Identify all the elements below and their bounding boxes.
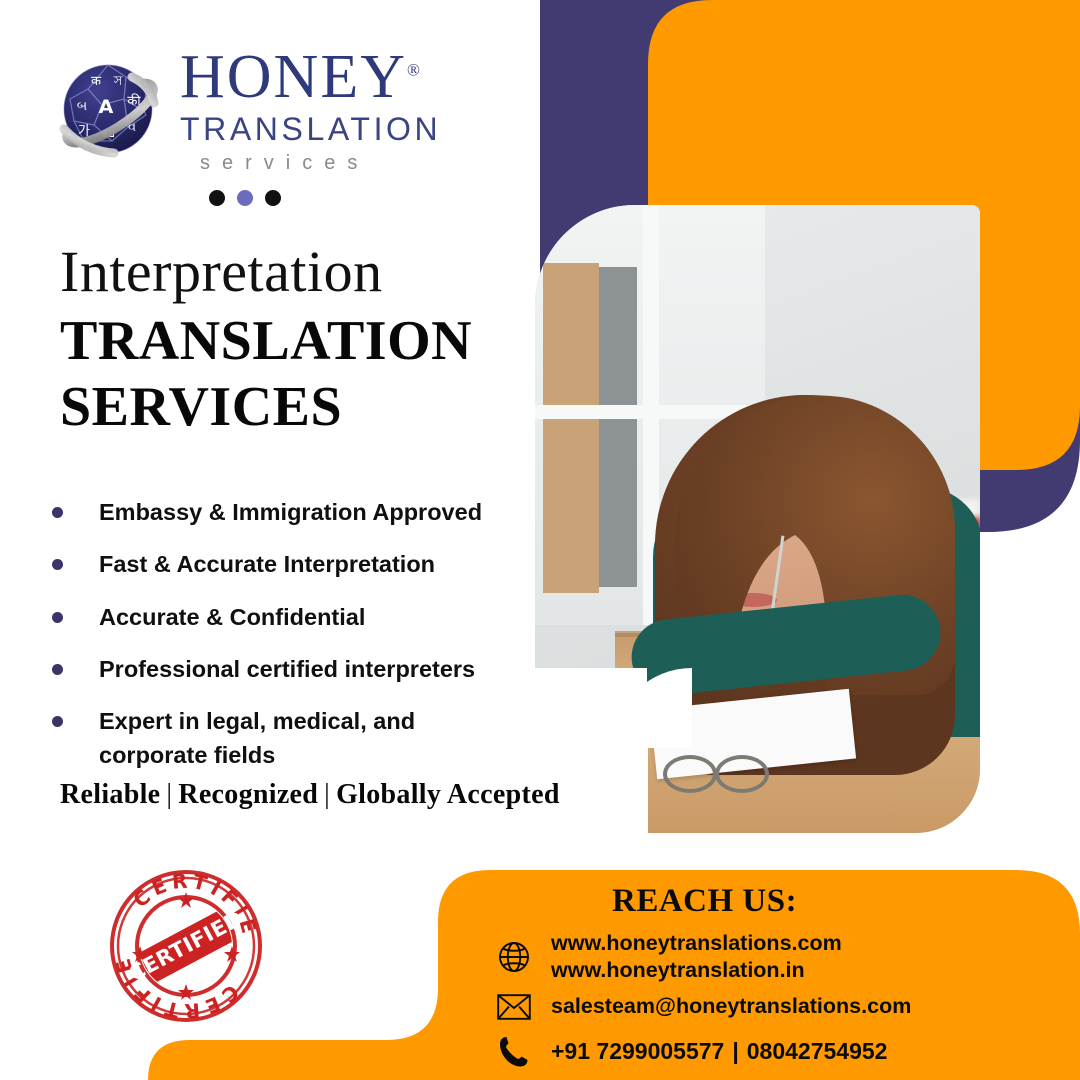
svg-text:CERTIFIED: CERTIFIED	[125, 906, 247, 986]
svg-text:क: क	[91, 74, 102, 89]
dot-2	[237, 190, 253, 206]
brand-name-primary-text: HONEY	[180, 43, 407, 111]
contact-heading: REACH US:	[612, 883, 797, 920]
contact-row-email[interactable]: salesteam@honeytranslations.com	[495, 988, 911, 1026]
headline-script: Interpretation	[60, 238, 383, 305]
poster-canvas: A બ की क স । 가 ഖ વ HONEY® TRANSLATION se…	[0, 0, 1080, 1080]
svg-text:স: স	[113, 74, 123, 89]
list-item: Professional certified interpreters	[52, 653, 522, 686]
svg-text:બ: બ	[77, 99, 87, 114]
envelope-icon	[495, 988, 533, 1026]
contact-phone-text: +91 7299005577|08042754952	[551, 1037, 887, 1066]
contact-section: REACH US: www.honeytranslations.com www.…	[440, 870, 1080, 1080]
photo-shelf-book	[543, 263, 599, 593]
bullet-dot-icon	[52, 559, 63, 570]
contact-website-text: www.honeytranslations.com www.honeytrans…	[551, 930, 842, 985]
brand-name-tertiary: services	[200, 152, 441, 175]
dot-1	[209, 190, 225, 206]
list-item: Fast & Accurate Interpretation	[52, 548, 522, 581]
tagline-part-2: Recognized	[178, 779, 318, 810]
list-item-label: Expert in legal, medical, and corporate …	[99, 705, 522, 772]
registered-trademark-icon: ®	[407, 60, 420, 79]
bullet-dot-icon	[52, 716, 63, 727]
contact-row-website[interactable]: www.honeytranslations.com www.honeytrans…	[495, 930, 842, 985]
contact-row-phone[interactable]: +91 7299005577|08042754952	[495, 1033, 887, 1071]
tagline-part-1: Reliable	[60, 779, 160, 810]
bullet-dot-icon	[52, 612, 63, 623]
brand-name-primary: HONEY®	[180, 48, 420, 107]
tagline-part-3: Globally Accepted	[336, 779, 560, 810]
decorative-dots	[209, 190, 281, 206]
phone-number-2: 08042754952	[747, 1038, 888, 1064]
bullet-dot-icon	[52, 507, 63, 518]
tagline-separator-1: |	[166, 779, 172, 810]
brand-logo[interactable]: A બ की क স । 가 ഖ વ HONEY® TRANSLATION se…	[54, 48, 441, 175]
contact-email-text: salesteam@honeytranslations.com	[551, 993, 911, 1020]
list-item: Embassy & Immigration Approved	[52, 496, 522, 529]
tagline: Reliable|Recognized|Globally Accepted	[60, 779, 560, 811]
globe-languages-icon: A બ की क স । 가 ഖ વ	[54, 55, 166, 167]
list-item-label: Professional certified interpreters	[99, 653, 475, 686]
tagline-separator-2: |	[324, 779, 330, 810]
list-item: Expert in legal, medical, and corporate …	[52, 705, 522, 772]
phone-number-1: +91 7299005577	[551, 1038, 724, 1064]
headline-line-1: TRANSLATION	[60, 308, 472, 374]
brand-wordmark: HONEY® TRANSLATION services	[180, 48, 441, 175]
phone-separator: |	[732, 1038, 738, 1064]
headline-main: TRANSLATION SERVICES	[60, 308, 472, 440]
globe-icon	[495, 938, 533, 976]
list-item-label: Fast & Accurate Interpretation	[99, 548, 435, 581]
svg-text:A: A	[99, 96, 114, 118]
brand-name-secondary: TRANSLATION	[180, 111, 441, 148]
dot-3	[265, 190, 281, 206]
website-line-2: www.honeytranslation.in	[551, 957, 842, 984]
list-item-label: Embassy & Immigration Approved	[99, 496, 482, 529]
phone-icon	[495, 1033, 533, 1071]
website-line-1: www.honeytranslations.com	[551, 930, 842, 957]
feature-list: Embassy & Immigration Approved Fast & Ac…	[52, 496, 522, 791]
certified-stamp-icon: CERTIFIED CERTIFIED CERTIFIED	[108, 868, 264, 1024]
list-item: Accurate & Confidential	[52, 601, 522, 634]
photo-eyeglasses	[663, 757, 783, 793]
list-item-label: Accurate & Confidential	[99, 601, 365, 634]
bullet-dot-icon	[52, 664, 63, 675]
headline-line-2: SERVICES	[60, 374, 472, 440]
photo-shelf-book-2	[599, 267, 637, 587]
